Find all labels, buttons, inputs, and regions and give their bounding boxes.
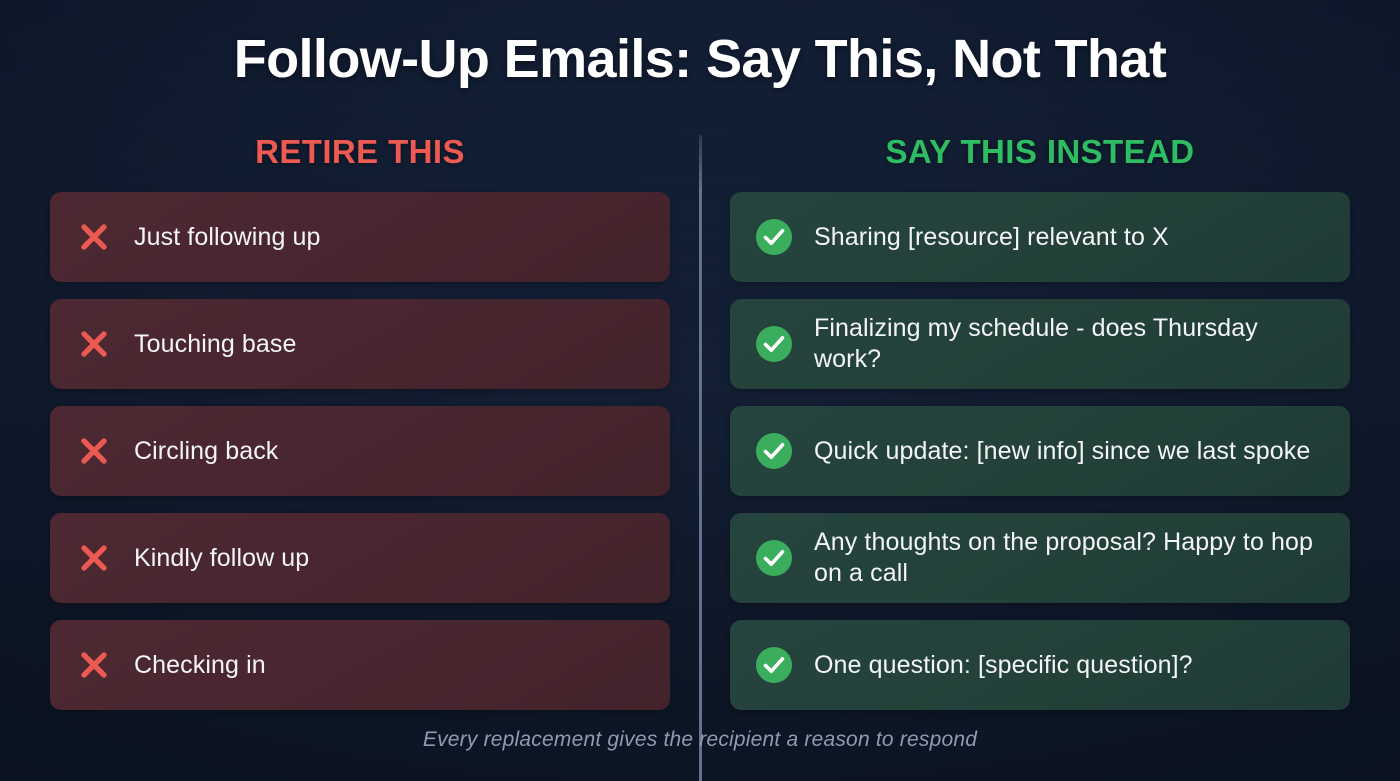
- check-circle-icon: [752, 536, 796, 580]
- replace-card-list: Sharing [resource] relevant to X Finaliz…: [730, 192, 1350, 710]
- retire-card-label: Circling back: [134, 436, 278, 467]
- replace-card-label: Finalizing my schedule - does Thursday w…: [814, 313, 1330, 375]
- retire-card-label: Checking in: [134, 650, 266, 681]
- replace-column: SAY THIS INSTEAD Sharing [resource] rele…: [730, 130, 1350, 710]
- replace-card-label: One question: [specific question]?: [814, 650, 1193, 681]
- retire-card-label: Kindly follow up: [134, 543, 309, 574]
- slide-root: Follow-Up Emails: Say This, Not That RET…: [0, 0, 1400, 781]
- x-mark-icon: [72, 536, 116, 580]
- x-mark-icon: [72, 215, 116, 259]
- retire-card[interactable]: Touching base: [50, 299, 670, 389]
- replace-card-label: Quick update: [new info] since we last s…: [814, 436, 1310, 467]
- retire-card-label: Just following up: [134, 222, 321, 253]
- replace-column-header: SAY THIS INSTEAD: [730, 130, 1350, 178]
- check-circle-icon: [752, 429, 796, 473]
- check-circle-icon: [752, 322, 796, 366]
- x-mark-icon: [72, 643, 116, 687]
- retire-card[interactable]: Checking in: [50, 620, 670, 710]
- retire-column: RETIRE THIS Just following up: [50, 130, 670, 710]
- check-circle-icon: [752, 643, 796, 687]
- x-mark-icon: [72, 429, 116, 473]
- x-mark-icon: [72, 322, 116, 366]
- retire-card-label: Touching base: [134, 329, 297, 360]
- check-circle-icon: [752, 215, 796, 259]
- column-divider: [699, 135, 702, 781]
- replace-card-label: Sharing [resource] relevant to X: [814, 222, 1169, 253]
- footer-note: Every replacement gives the recipient a …: [0, 728, 1400, 752]
- retire-card-list: Just following up Touching base: [50, 192, 670, 710]
- replace-card[interactable]: Finalizing my schedule - does Thursday w…: [730, 299, 1350, 389]
- retire-card[interactable]: Just following up: [50, 192, 670, 282]
- page-title: Follow-Up Emails: Say This, Not That: [0, 30, 1400, 89]
- replace-card[interactable]: Sharing [resource] relevant to X: [730, 192, 1350, 282]
- retire-card[interactable]: Kindly follow up: [50, 513, 670, 603]
- retire-column-header: RETIRE THIS: [50, 130, 670, 178]
- retire-card[interactable]: Circling back: [50, 406, 670, 496]
- replace-card[interactable]: Quick update: [new info] since we last s…: [730, 406, 1350, 496]
- replace-card-label: Any thoughts on the proposal? Happy to h…: [814, 527, 1330, 589]
- replace-card[interactable]: Any thoughts on the proposal? Happy to h…: [730, 513, 1350, 603]
- replace-card[interactable]: One question: [specific question]?: [730, 620, 1350, 710]
- comparison-columns: RETIRE THIS Just following up: [0, 130, 1400, 710]
